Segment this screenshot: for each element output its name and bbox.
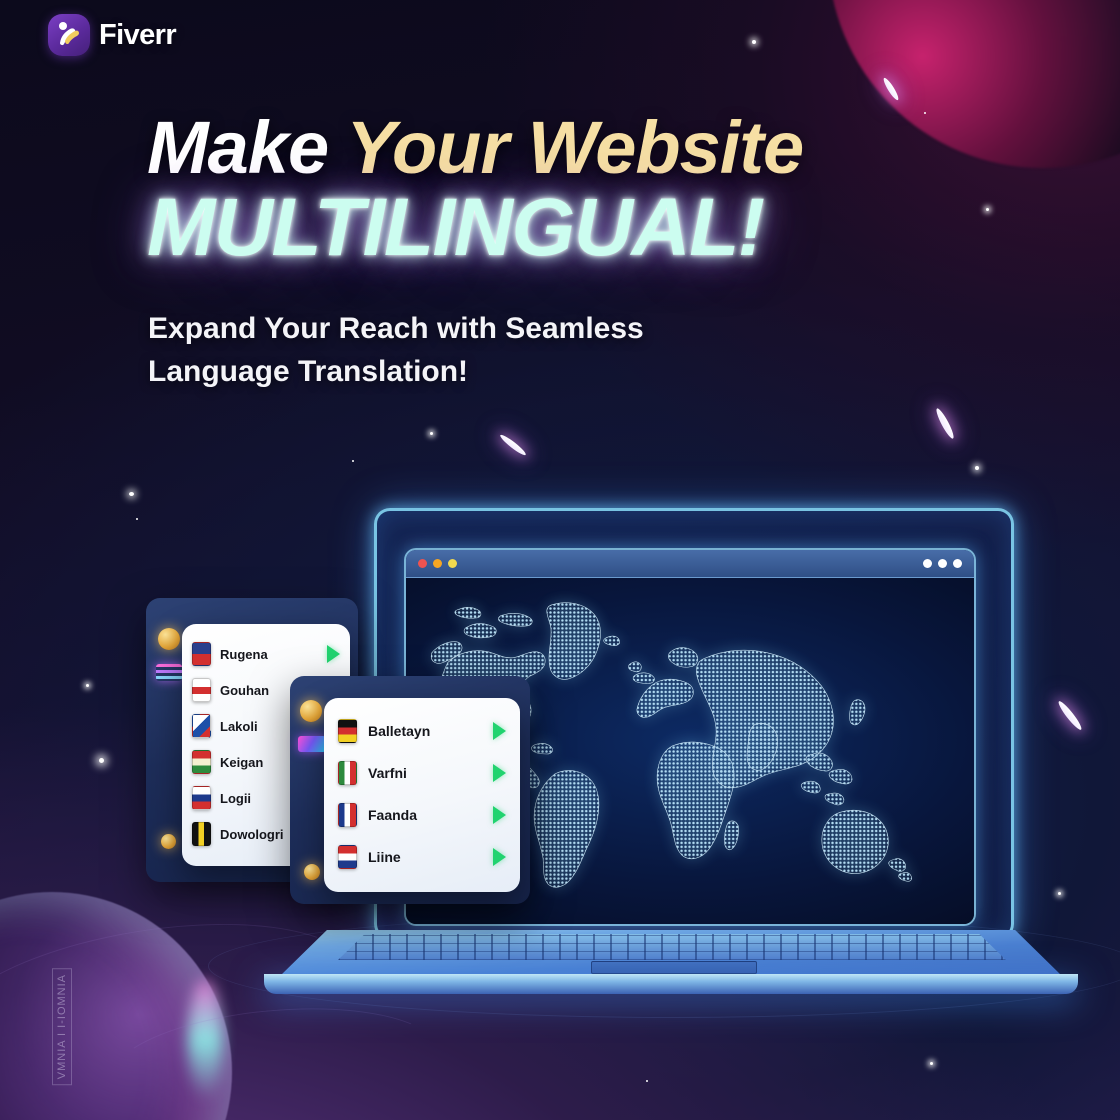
- play-arrow-icon[interactable]: [493, 848, 506, 866]
- fiverr-logo-icon: [48, 14, 90, 56]
- list-item[interactable]: Faanda: [338, 794, 506, 836]
- flag-icon: [338, 845, 357, 869]
- star: [136, 518, 138, 520]
- language-label: Balletayn: [368, 723, 482, 739]
- play-arrow-icon[interactable]: [493, 806, 506, 824]
- browser-titlebar: [406, 550, 974, 578]
- close-dot-icon[interactable]: [418, 559, 427, 568]
- headline-part-2: Your Website: [346, 106, 803, 189]
- laptop-base: [256, 930, 1086, 996]
- list-item[interactable]: Varfni: [338, 752, 506, 794]
- flag-icon: [192, 714, 211, 738]
- star: [975, 466, 979, 470]
- window-menu-dots[interactable]: [923, 559, 962, 568]
- star: [129, 492, 134, 496]
- flag-icon: [338, 719, 357, 743]
- play-arrow-icon[interactable]: [493, 764, 506, 782]
- flag-icon: [192, 678, 211, 702]
- globe-coin-icon: [304, 864, 320, 880]
- play-arrow-icon[interactable]: [493, 722, 506, 740]
- globe-coin-icon: [300, 700, 322, 722]
- star: [86, 684, 89, 687]
- flag-icon: [338, 803, 357, 827]
- traffic-light-dots: [418, 559, 457, 568]
- promo-poster: Fiverr Make Your Website MULTILINGUAL! E…: [0, 0, 1120, 1120]
- flag-icon: [192, 750, 211, 774]
- globe-coin-icon: [158, 628, 180, 650]
- watermark-text: VMNIA I I-IOMNIA: [52, 968, 72, 1085]
- brand-logo[interactable]: Fiverr: [48, 14, 176, 56]
- subtitle: Expand Your Reach with Seamless Language…: [148, 308, 788, 393]
- headline-part-1: Make: [147, 106, 346, 189]
- flag-icon: [338, 761, 357, 785]
- menu-dot-icon: [938, 559, 947, 568]
- headline-line-1: Make Your Website: [147, 112, 977, 185]
- list-item[interactable]: Balletayn: [338, 710, 506, 752]
- star: [986, 208, 989, 211]
- language-label: Liine: [368, 849, 482, 865]
- flag-icon: [192, 642, 211, 666]
- star: [646, 1080, 648, 1082]
- maximize-dot-icon[interactable]: [448, 559, 457, 568]
- laptop-keyboard: [338, 934, 1006, 960]
- menu-dot-icon: [923, 559, 932, 568]
- light-streak: [934, 407, 956, 440]
- star: [752, 40, 756, 44]
- list-item[interactable]: Rugena: [192, 636, 340, 672]
- laptop-trackpad: [591, 961, 757, 974]
- flag-icon: [192, 786, 211, 810]
- star: [99, 758, 104, 763]
- star: [352, 460, 354, 462]
- brand-name: Fiverr: [99, 19, 176, 52]
- minimize-dot-icon[interactable]: [433, 559, 442, 568]
- globe-coin-icon: [161, 834, 176, 849]
- language-label: Varfni: [368, 765, 482, 781]
- light-streak: [499, 433, 528, 457]
- star: [430, 432, 433, 435]
- list-item[interactable]: Liine: [338, 836, 506, 878]
- star: [930, 1062, 933, 1065]
- language-list-card: Balletayn Varfni Faanda Liine: [324, 698, 520, 892]
- language-label: Rugena: [220, 647, 312, 662]
- headline-line-2: MULTILINGUAL!: [147, 187, 977, 269]
- badge-icon[interactable]: [298, 736, 326, 752]
- laptop-front-edge: [264, 974, 1078, 994]
- headline-block: Make Your Website MULTILINGUAL!: [147, 112, 977, 269]
- menu-lines-icon[interactable]: [156, 664, 182, 681]
- play-arrow-icon[interactable]: [327, 645, 340, 663]
- menu-dot-icon: [953, 559, 962, 568]
- language-label: Faanda: [368, 807, 482, 823]
- language-panel-front[interactable]: Balletayn Varfni Faanda Liine: [290, 676, 530, 908]
- flag-icon: [192, 822, 211, 846]
